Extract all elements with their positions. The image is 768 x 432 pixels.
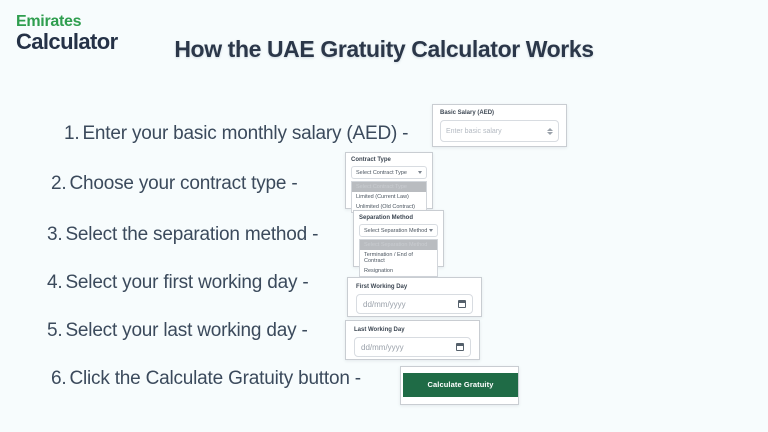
last-working-day-placeholder: dd/mm/yyyy [361, 343, 404, 352]
step-label-1: Enter your basic monthly salary (AED) - [82, 123, 408, 144]
first-working-day-placeholder: dd/mm/yyyy [363, 300, 406, 309]
first-working-day-label: First Working Day [356, 284, 473, 290]
logo-line-emirates: Emirates [16, 14, 118, 30]
calendar-icon[interactable] [456, 343, 464, 351]
contract-type-option-list: Select Contract Type Limited (Current La… [351, 181, 427, 213]
step-number-2: 2. [51, 173, 66, 194]
chevron-down-icon [418, 171, 422, 174]
number-spinner-icon[interactable] [547, 128, 553, 135]
step-number-3: 3. [47, 224, 62, 245]
step-item-3: 3.Select the separation method - [47, 224, 318, 246]
step-label-6: Click the Calculate Gratuity button - [69, 368, 360, 389]
contract-type-selected-value: Select Contract Type [356, 170, 407, 176]
contract-type-option-0[interactable]: Select Contract Type [352, 182, 426, 192]
calculate-button-screenshot: Calculate Gratuity [400, 366, 519, 405]
calculate-gratuity-button[interactable]: Calculate Gratuity [403, 373, 518, 397]
calendar-icon[interactable] [458, 300, 466, 308]
last-working-day-input[interactable]: dd/mm/yyyy [354, 337, 471, 357]
chevron-down-icon [429, 229, 433, 232]
contract-type-select[interactable]: Select Contract Type [351, 166, 427, 179]
step-item-4: 4.Select your first working day - [47, 272, 308, 294]
page-title: How the UAE Gratuity Calculator Works [0, 36, 768, 63]
step-label-5: Select your last working day - [65, 320, 307, 341]
contract-type-option-1[interactable]: Limited (Current Law) [352, 192, 426, 202]
salary-field-label: Basic Salary (AED) [440, 110, 559, 116]
contract-type-label: Contract Type [351, 157, 427, 163]
step-number-6: 6. [51, 368, 66, 389]
separation-method-label: Separation Method [359, 215, 438, 221]
step-number-5: 5. [47, 320, 62, 341]
step-label-2: Choose your contract type - [69, 173, 297, 194]
last-working-day-screenshot: Last Working Day dd/mm/yyyy [345, 320, 480, 360]
separation-method-option-2[interactable]: Resignation [360, 266, 437, 276]
separation-method-option-1[interactable]: Termination / End of Contract [360, 250, 437, 266]
first-working-day-input[interactable]: dd/mm/yyyy [356, 294, 473, 314]
first-working-day-screenshot: First Working Day dd/mm/yyyy [347, 277, 482, 317]
separation-method-select[interactable]: Select Separation Method [359, 224, 438, 237]
separation-method-screenshot: Separation Method Select Separation Meth… [353, 210, 444, 267]
step-label-4: Select your first working day - [65, 272, 308, 293]
last-working-day-label: Last Working Day [354, 327, 471, 333]
step-item-2: 2.Choose your contract type - [51, 173, 297, 195]
step-item-5: 5.Select your last working day - [47, 320, 308, 342]
salary-field-screenshot: Basic Salary (AED) Enter basic salary [432, 104, 567, 147]
separation-method-selected-value: Select Separation Method [364, 228, 427, 234]
separation-method-option-0[interactable]: Select Separation Method [360, 240, 437, 250]
separation-method-option-list: Select Separation Method Termination / E… [359, 239, 438, 277]
step-item-6: 6.Click the Calculate Gratuity button - [51, 368, 361, 390]
salary-input[interactable]: Enter basic salary [440, 120, 559, 142]
step-item-1: 1.Enter your basic monthly salary (AED) … [64, 123, 408, 145]
salary-input-placeholder: Enter basic salary [446, 128, 502, 135]
step-number-4: 4. [47, 272, 62, 293]
contract-type-screenshot: Contract Type Select Contract Type Selec… [345, 152, 433, 209]
step-number-1: 1. [64, 123, 79, 144]
step-label-3: Select the separation method - [65, 224, 318, 245]
